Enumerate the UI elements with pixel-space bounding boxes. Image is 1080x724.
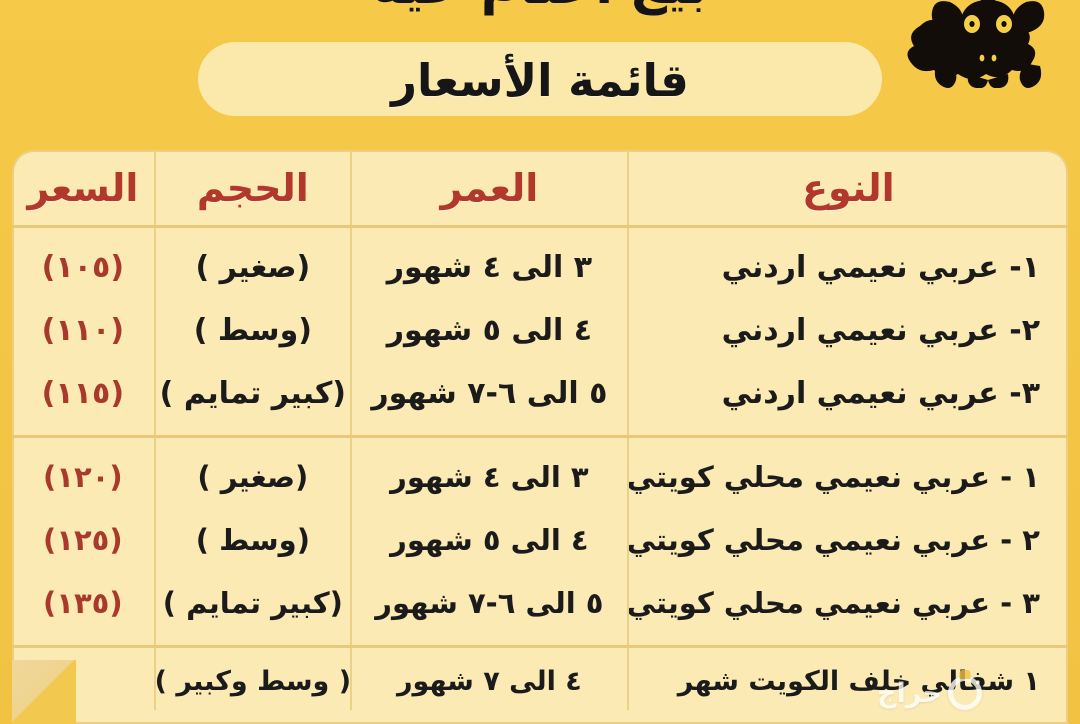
group2-price-cell: (١٢٠) (١٢٥) (١٣٥)	[12, 438, 156, 645]
table-row: (١٢٥)	[22, 509, 144, 572]
table-row: ٣ الى ٤ شهور	[362, 446, 617, 509]
table-row: (كبير تمايم )	[166, 572, 340, 635]
corner-fold-decoration	[12, 660, 76, 724]
table-row: ٤ الى ٥ شهور	[362, 509, 617, 572]
table-group-arabi-naimi-mahalli-kuwaiti: ١ - عربي نعيمي محلي كويتي ٢ - عربي نعيمي…	[12, 438, 1068, 648]
group2-size-cell: (صغير ) (وسط ) (كبير تمايم )	[156, 438, 352, 645]
table-row: ٢ - عربي نعيمي محلي كويتي	[639, 509, 1058, 572]
table-row: (١١٥)	[22, 362, 144, 425]
table-row: ٥ الى ٦-٧ شهور	[362, 362, 617, 425]
group2-type-cell: ١ - عربي نعيمي محلي كويتي ٢ - عربي نعيمي…	[629, 438, 1068, 645]
table-row: (صغير )	[166, 236, 340, 299]
table-row: ١- عربي نعيمي اردني	[639, 236, 1058, 299]
table-row: ٤ الى ٥ شهور	[362, 299, 617, 362]
table-row: (١٢٠)	[22, 446, 144, 509]
header-label-price: السعر	[27, 169, 138, 207]
table-header-row: النوع العمر الحجم السعر	[12, 150, 1068, 228]
header-cell-type: النوع	[629, 150, 1068, 225]
table-row: ١ شفالي خلف الكويت شهر	[639, 654, 1058, 710]
table-row: (وسط )	[166, 299, 340, 362]
group3-age-cell: ٤ الى ٧ شهور	[352, 648, 629, 710]
header-cell-size: الحجم	[156, 150, 352, 225]
table-group-arabi-naimi-urduni: ١- عربي نعيمي اردني ٢- عربي نعيمي اردني …	[12, 228, 1068, 438]
header-label-type: النوع	[802, 169, 895, 207]
page-title: قائمة الأسعار	[391, 58, 689, 103]
table-row: ( وسط وكبير )	[166, 654, 340, 710]
group1-type-cell: ١- عربي نعيمي اردني ٢- عربي نعيمي اردني …	[629, 228, 1068, 435]
title-pill: قائمة الأسعار	[198, 42, 882, 116]
group1-price-cell: (١٠٥) (١١٠) (١١٥)	[12, 228, 156, 435]
header-label-age: العمر	[440, 169, 538, 207]
group3-type-cell: ١ شفالي خلف الكويت شهر	[629, 648, 1068, 710]
price-table: النوع العمر الحجم السعر ١- عربي نعيمي ار…	[12, 150, 1068, 724]
table-row: (وسط )	[166, 509, 340, 572]
table-row: (١٣٥)	[22, 572, 144, 635]
group2-age-cell: ٣ الى ٤ شهور ٤ الى ٥ شهور ٥ الى ٦-٧ شهور	[352, 438, 629, 645]
table-row: ٣ - عربي نعيمي محلي كويتي	[639, 572, 1058, 635]
table-row: (١١٠)	[22, 299, 144, 362]
table-row: ٣- عربي نعيمي اردني	[639, 362, 1058, 425]
table-row: (كبير تمايم )	[166, 362, 340, 425]
price-list-poster: بيع اغنام حية	[0, 0, 1080, 724]
table-row: (١٠٥)	[22, 236, 144, 299]
poster-banner: بيع اغنام حية	[0, 0, 1080, 146]
table-row: ٢- عربي نعيمي اردني	[639, 299, 1058, 362]
header-cell-price: السعر	[12, 150, 156, 225]
header-label-size: الحجم	[197, 169, 309, 207]
group1-age-cell: ٣ الى ٤ شهور ٤ الى ٥ شهور ٥ الى ٦-٧ شهور	[352, 228, 629, 435]
table-row: (صغير )	[166, 446, 340, 509]
table-row: ٣ الى ٤ شهور	[362, 236, 617, 299]
table-row: ٥ الى ٦-٧ شهور	[362, 572, 617, 635]
table-group-shafali-khalaf-alkuwait: ١ شفالي خلف الكويت شهر ٤ الى ٧ شهور ( وس…	[12, 648, 1068, 710]
group1-size-cell: (صغير ) (وسط ) (كبير تمايم )	[156, 228, 352, 435]
table-row: ١ - عربي نعيمي محلي كويتي	[639, 446, 1058, 509]
group3-size-cell: ( وسط وكبير )	[156, 648, 352, 710]
table-row: ٤ الى ٧ شهور	[362, 654, 617, 710]
header-cell-age: العمر	[352, 150, 629, 225]
sheep-logo-icon	[902, 0, 1074, 88]
